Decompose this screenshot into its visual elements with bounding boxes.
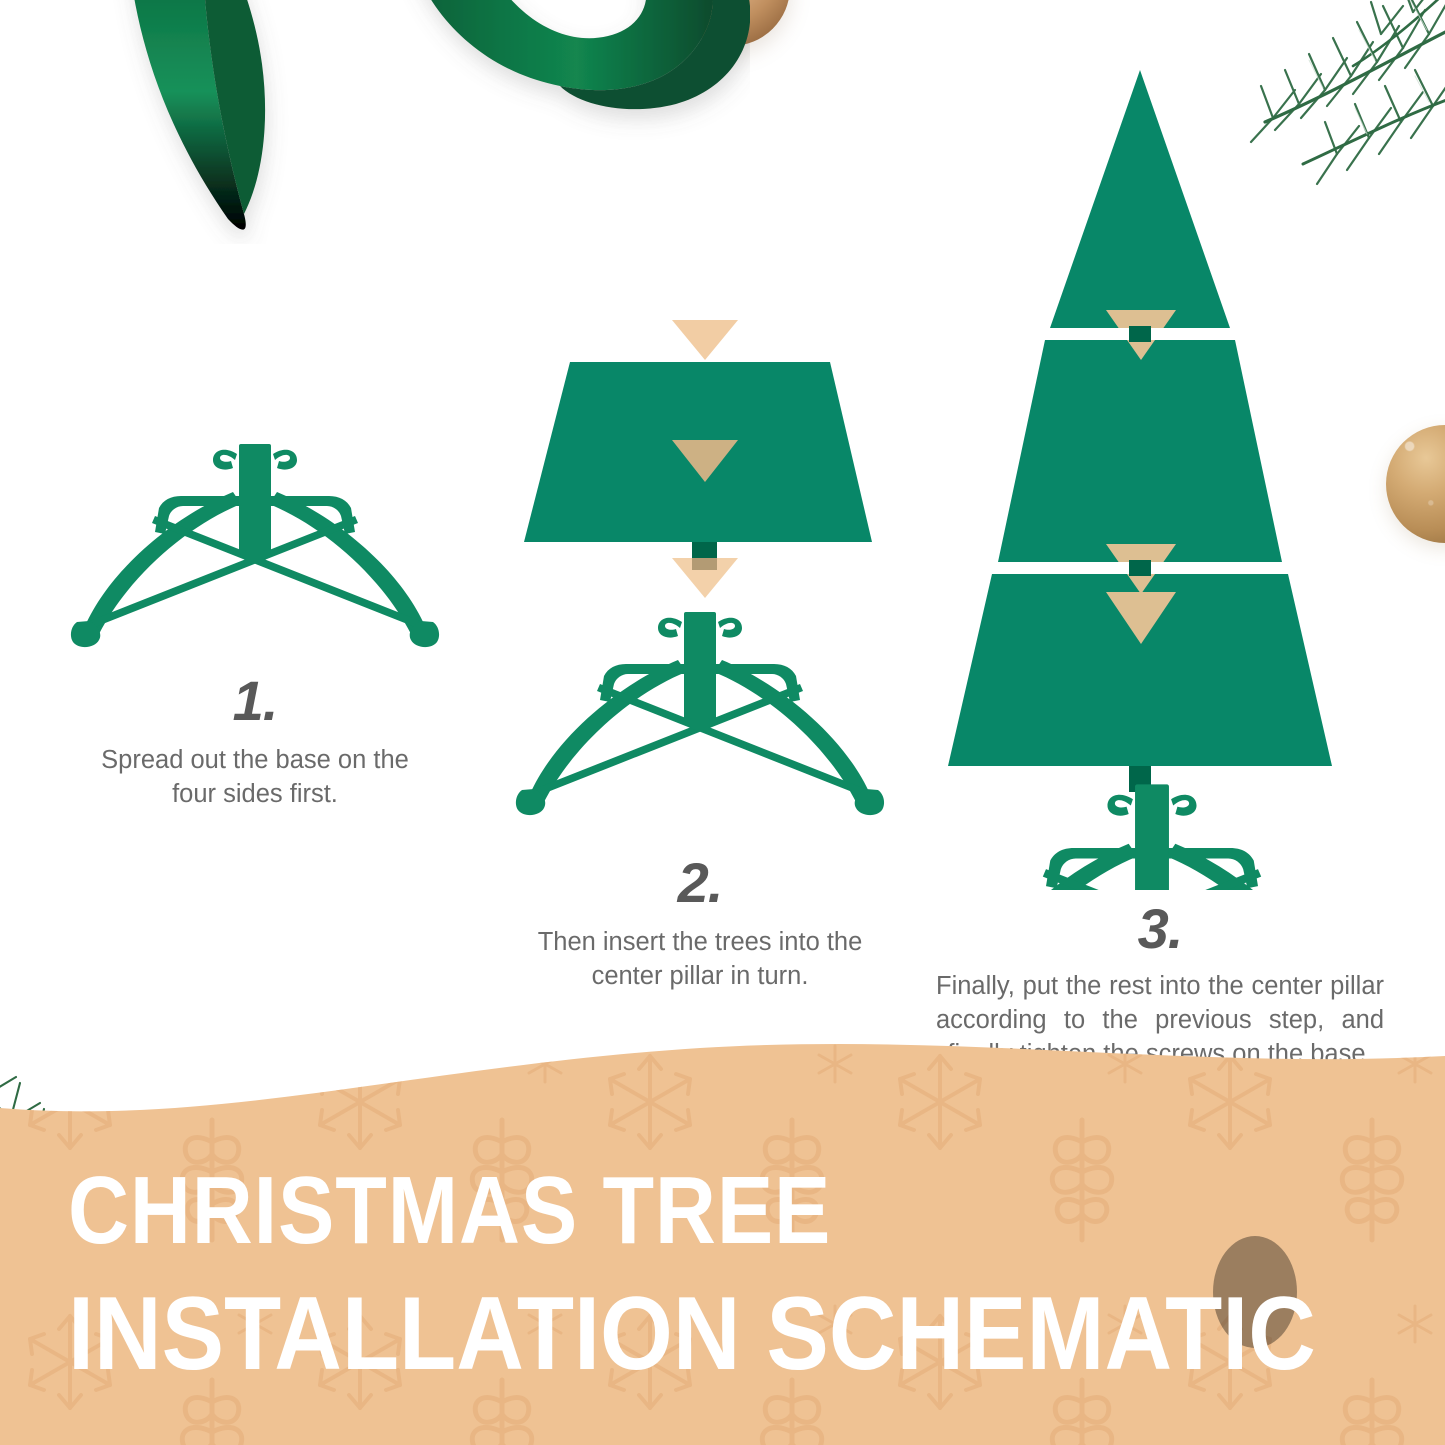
step-3-number: 3.	[930, 901, 1390, 957]
bottom-banner: CHRISTMAS TREE INSTALLATION SCHEMATIC	[0, 1030, 1445, 1445]
step-3: 3. Finally, put the rest into the center…	[930, 60, 1390, 1071]
step-1-number: 1.	[55, 673, 455, 729]
step-2-caption: Then insert the trees into the center pi…	[520, 925, 880, 993]
banner-title-block: CHRISTMAS TREE INSTALLATION SCHEMATIC	[0, 1030, 1445, 1445]
tree-tier-middle	[998, 340, 1282, 562]
banner-title-line-1: CHRISTMAS TREE	[68, 1163, 831, 1259]
step-1: 1. Spread out the base on the four sides…	[55, 430, 455, 811]
banner-title-line-2: INSTALLATION SCHEMATIC	[68, 1282, 1316, 1386]
tree-tier-top	[1050, 70, 1230, 328]
step-2-number: 2.	[500, 855, 900, 911]
center-pillar-stub-lower	[1129, 560, 1151, 576]
insert-arrow-top-icon	[672, 320, 738, 360]
tree-section-and-stand-illustration	[500, 310, 900, 820]
steps-container: 1. Spread out the base on the four sides…	[0, 0, 1445, 1060]
center-pillar-stub-upper	[1129, 326, 1151, 342]
infographic-page: 1. Spread out the base on the four sides…	[0, 0, 1445, 1445]
tree-stand-base-illustration	[55, 430, 455, 660]
step-1-caption: Spread out the base on the four sides fi…	[90, 743, 420, 811]
assembled-tree-illustration	[930, 60, 1390, 890]
step-2: 2. Then insert the trees into the center…	[500, 310, 900, 993]
